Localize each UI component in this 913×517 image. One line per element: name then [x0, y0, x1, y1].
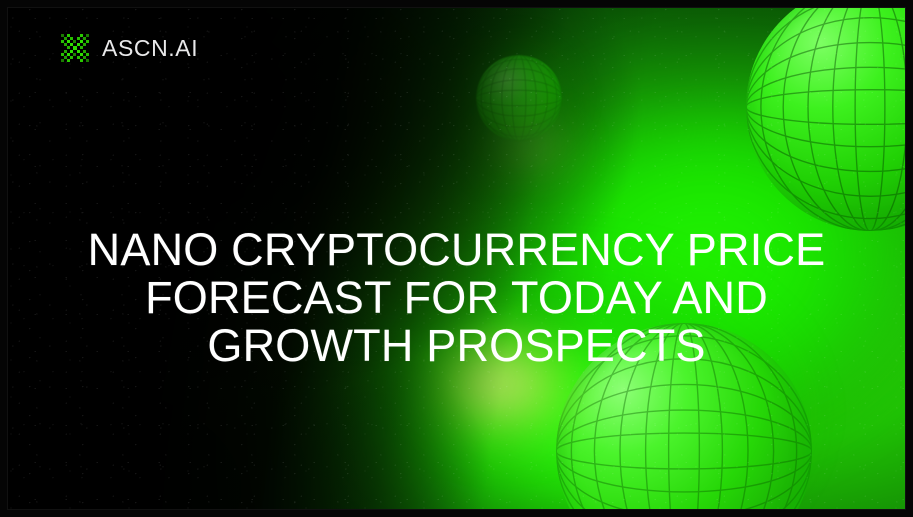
page-title: NANO CRYPTOCURRENCY PRICE FORECAST FOR T…: [0, 226, 913, 370]
brand-name: ASCN.AI: [102, 37, 198, 60]
headline-line-2: FORECAST FOR TODAY AND: [44, 274, 869, 322]
headline-line-3: GROWTH PROSPECTS: [44, 322, 869, 370]
banner-image: ASCN.AI NANO CRYPTOCURRENCY PRICE FORECA…: [0, 0, 913, 517]
sphere-edge-feather: [8, 363, 152, 509]
sphere-bottom-left: [8, 363, 152, 509]
brand-lockup[interactable]: ASCN.AI: [60, 33, 198, 63]
headline-line-1: NANO CRYPTOCURRENCY PRICE: [44, 226, 869, 274]
ascn-pixel-butterfly-icon: [60, 33, 90, 63]
glow-highlight-secondary: [474, 117, 582, 177]
